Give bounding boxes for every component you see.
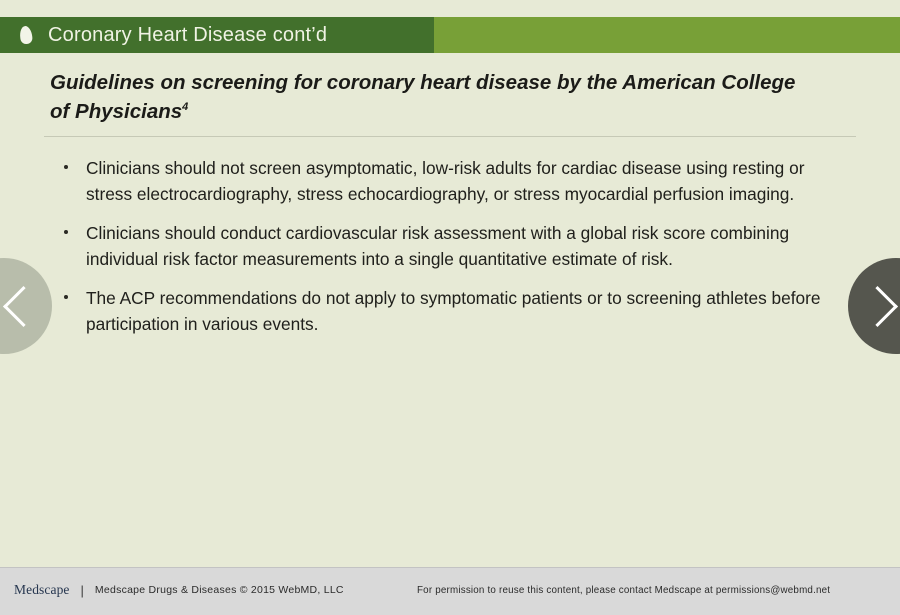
footer-content: Medscape | Medscape Drugs & Diseases © 2… [0, 581, 900, 599]
footer-permission-notice: For permission to reuse this content, pl… [417, 585, 830, 596]
list-item-text: Clinicians should not screen asymptomati… [86, 158, 804, 204]
slide-content: Guidelines on screening for coronary hea… [0, 53, 900, 568]
list-item-text: The ACP recommendations do not apply to … [86, 288, 821, 334]
page-title-footnote-marker: 4 [182, 101, 188, 113]
header-accent-strip [434, 17, 900, 53]
chevron-right-icon [856, 285, 897, 326]
chevron-left-icon [2, 285, 43, 326]
slide-header-bar: Coronary Heart Disease cont’d [0, 17, 900, 53]
footer-separator: | [81, 583, 84, 598]
header-title-block: Coronary Heart Disease cont’d [0, 17, 434, 53]
medscape-logo[interactable]: Medscape [14, 582, 70, 598]
page-title-text: Guidelines on screening for coronary hea… [50, 71, 795, 123]
heading-divider [44, 136, 856, 137]
slide-footer: Medscape | Medscape Drugs & Diseases © 2… [0, 567, 900, 615]
leaf-icon [20, 25, 33, 45]
bullet-dot-icon [64, 295, 68, 299]
slide-root: Coronary Heart Disease cont’d Guidelines… [0, 0, 900, 615]
list-item: Clinicians should not screen asymptomati… [44, 155, 844, 208]
list-item-text: Clinicians should conduct cardiovascular… [86, 223, 789, 269]
footer-copyright: Medscape Drugs & Diseases © 2015 WebMD, … [95, 584, 344, 596]
list-item: Clinicians should conduct cardiovascular… [44, 220, 844, 273]
bullet-dot-icon [64, 165, 68, 169]
slide-header-title: Coronary Heart Disease cont’d [48, 24, 327, 47]
page-title: Guidelines on screening for coronary hea… [50, 68, 810, 126]
bullet-dot-icon [64, 230, 68, 234]
recommendation-list: Clinicians should not screen asymptomati… [44, 155, 844, 350]
list-item: The ACP recommendations do not apply to … [44, 285, 844, 338]
